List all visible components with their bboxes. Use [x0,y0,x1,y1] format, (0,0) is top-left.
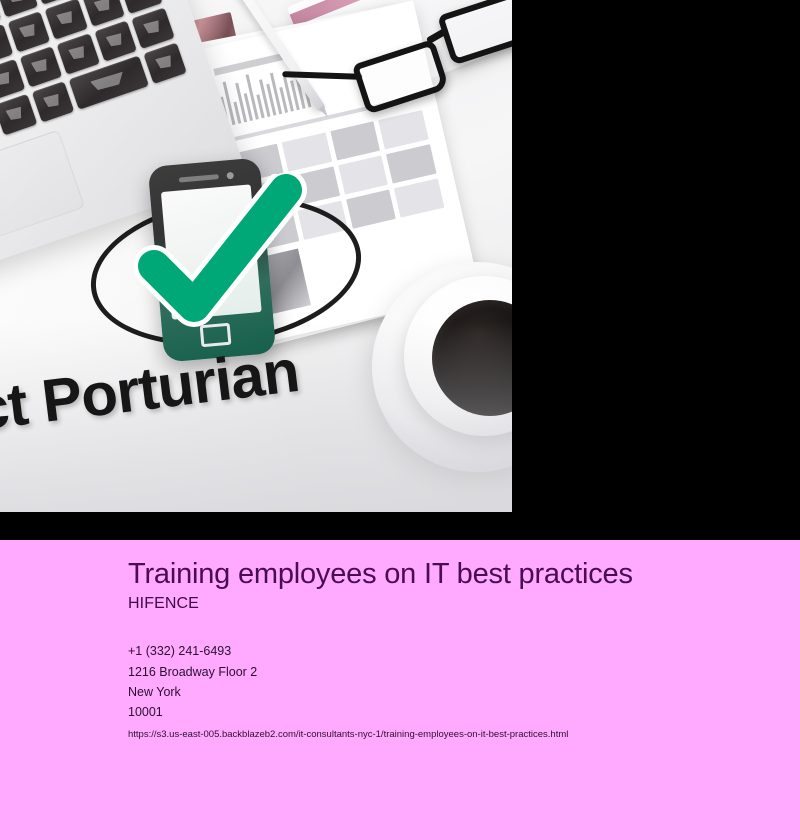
contact-postal-code: 10001 [128,702,800,722]
info-panel: Training employees on IT best practices … [0,540,800,840]
eyeglasses-lens [352,39,450,115]
eyeglasses-lens [437,0,512,66]
hero-photo: ct Porturian [0,0,512,512]
page-title: Training employees on IT best practices [128,558,800,591]
brand-logo: ct Porturian [86,150,396,440]
source-url[interactable]: https://s3.us-east-005.backblazeb2.com/i… [128,729,800,741]
checkmark-icon [134,174,310,350]
contact-street: 1216 Broadway Floor 2 [128,662,800,682]
contact-phone[interactable]: +1 (332) 241-6493 [128,641,800,661]
contact-city: New York [128,682,800,702]
media-letterbox-band: ct Porturian [0,0,800,540]
brand-name: HIFENCE [128,595,800,613]
